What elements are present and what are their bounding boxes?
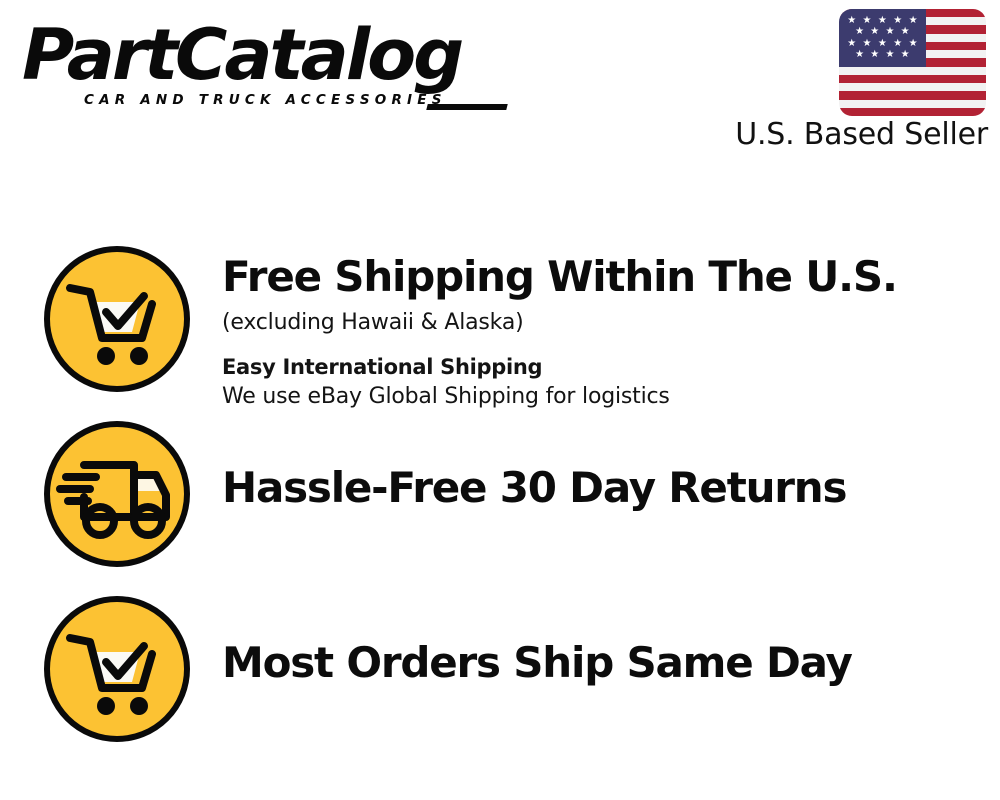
feature-heading: Hassle-Free 30 Day Returns <box>222 463 982 513</box>
brand-logo: PartCatalog CAR AND TRUCK ACCESSORIES <box>22 18 492 113</box>
feature-list: Free Shipping Within The U.S. (excluding… <box>0 240 1000 765</box>
us-based-seller-label: U.S. Based Seller <box>735 118 988 152</box>
feature-row-same-day: Most Orders Ship Same Day <box>0 590 1000 765</box>
brand-tagline: CAR AND TRUCK ACCESSORIES <box>84 92 447 108</box>
shopping-cart-check-icon <box>44 246 190 392</box>
feature-subheading: Easy International Shipping <box>222 352 982 382</box>
feature-heading: Free Shipping Within The U.S. <box>222 252 982 302</box>
cart-check-glyph <box>44 246 190 392</box>
flag-canton: ★★★★★ ★★★★ ★★★★★ ★★★★ <box>839 9 926 67</box>
truck-glyph <box>44 421 190 567</box>
feature-subnote: (excluding Hawaii & Alaska) <box>222 308 982 338</box>
cart-check-glyph <box>44 596 190 742</box>
feature-text-block: Most Orders Ship Same Day <box>222 638 982 688</box>
feature-row-returns: Hassle-Free 30 Day Returns <box>0 415 1000 590</box>
feature-text-block: Free Shipping Within The U.S. (excluding… <box>222 252 982 412</box>
feature-heading: Most Orders Ship Same Day <box>222 638 982 688</box>
feature-row-free-shipping: Free Shipping Within The U.S. (excluding… <box>0 240 1000 415</box>
brand-underline-accent <box>426 104 507 110</box>
banner-header: PartCatalog CAR AND TRUCK ACCESSORIES ★★… <box>0 0 1000 165</box>
delivery-truck-icon <box>44 421 190 567</box>
brand-wordmark: PartCatalog <box>22 18 461 92</box>
feature-subdetail: We use eBay Global Shipping for logistic… <box>222 382 982 412</box>
feature-text-block: Hassle-Free 30 Day Returns <box>222 463 982 513</box>
us-flag-icon: ★★★★★ ★★★★ ★★★★★ ★★★★ <box>839 9 986 116</box>
shopping-cart-check-icon <box>44 596 190 742</box>
